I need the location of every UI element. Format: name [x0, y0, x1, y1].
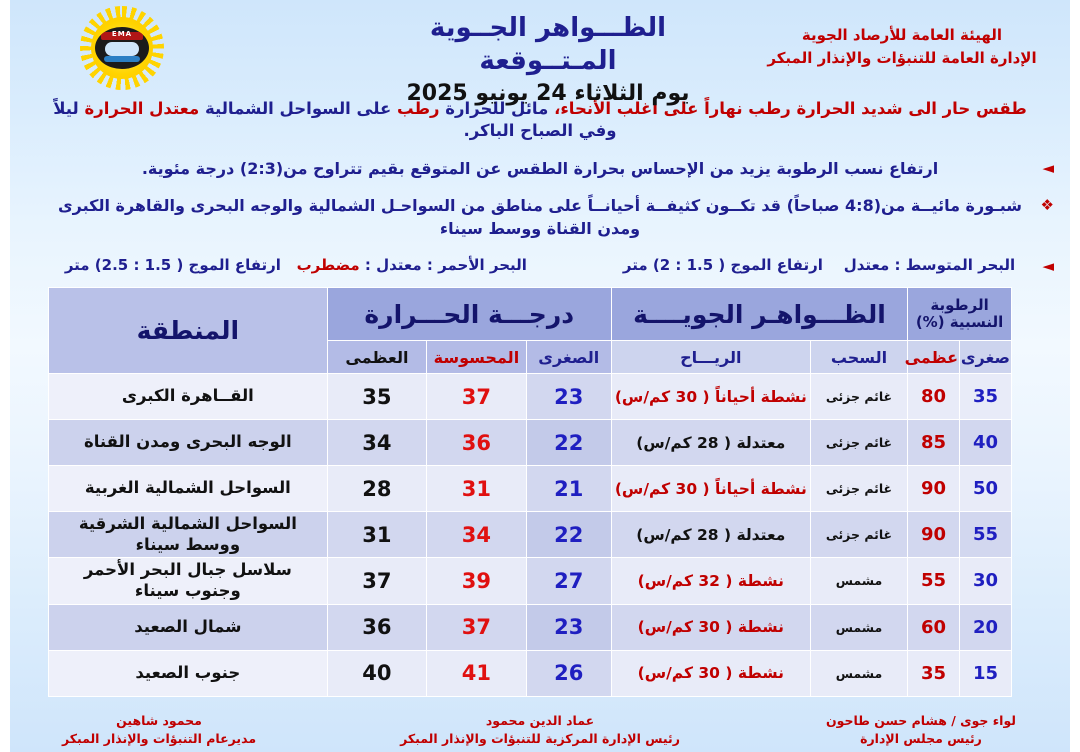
cell-region: شمال الصعيد [49, 604, 328, 650]
ema-logo-icon: EMA [74, 6, 170, 90]
table-body: 3580غائم جزئىنشطة أحياناً ( 30 كم/س)2337… [49, 374, 1012, 697]
central-head-title: رئيس الإدارة المركزية للتنبؤات والإنذار … [400, 730, 680, 748]
summary-part-5: معتدل الحرارة [84, 99, 199, 118]
cell-temp-feel: 36 [427, 420, 527, 466]
cell-humidity-min: 55 [960, 512, 1012, 558]
page-footer: لواء جوى / هشام حسن طاحون رئيس مجلس الإد… [10, 712, 1070, 748]
table-row: 3580غائم جزئىنشطة أحياناً ( 30 كم/س)2337… [49, 374, 1012, 420]
cell-humidity-min: 50 [960, 466, 1012, 512]
cell-region: السواحل الشمالية الغربية [49, 466, 328, 512]
mediterranean-wave-height: ارتفاع الموج ( 1.5 : 2) متر [623, 256, 823, 274]
agency-name: الهيئة العامة للأرصاد الجوية [752, 24, 1052, 47]
cell-temp-min: 21 [526, 466, 611, 512]
cell-humidity-max: 60 [908, 604, 960, 650]
summary-part-4: على السواحل الشمالية [205, 99, 391, 118]
cell-region: السواحل الشمالية الشرقية ووسط سيناء [49, 512, 328, 558]
cell-temp-min: 23 [526, 374, 611, 420]
red-sea-state: البحر الأحمر : معتدل : مضطرب ارتفاع المو… [65, 256, 527, 274]
cell-cloud: غائم جزئى [810, 512, 907, 558]
cell-wind: نشطة ( 32 كم/س) [611, 558, 810, 604]
bullet-arrow-icon-sea: ◄ [1042, 257, 1054, 275]
cell-temp-min: 27 [526, 558, 611, 604]
logo-cloud-icon [105, 42, 139, 56]
cell-wind: نشطة ( 30 كم/س) [611, 650, 810, 696]
mediterranean-sea-state: البحر المتوسط : معتدل ارتفاع الموج ( 1.5… [623, 256, 1015, 274]
cell-wind: نشطة أحياناً ( 30 كم/س) [611, 466, 810, 512]
red-sea-wave-height: ارتفاع الموج ( 1.5 : 2.5) متر [65, 256, 281, 274]
red-sea-label: البحر الأحمر : معتدل : [365, 256, 527, 274]
header-temperature: درجـــة الحـــرارة [327, 288, 611, 341]
cell-wind: معتدلة ( 28 كم/س) [611, 512, 810, 558]
cell-wind: معتدلة ( 28 كم/س) [611, 420, 810, 466]
cell-temp-min: 22 [526, 512, 611, 558]
central-head-name: عماد الدين محمود [400, 712, 680, 730]
bullet-arrow-icon: ◄ [1042, 158, 1054, 180]
logo-wave-icon [104, 56, 140, 62]
subheader-temp-max: العظمى [327, 341, 427, 374]
agency-department: الإدارة العامة للتنبؤات والإنذار المبكر [752, 47, 1052, 70]
sea-state-note: ◄ البحر المتوسط : معتدل ارتفاع الموج ( 1… [10, 256, 1070, 274]
cell-cloud: غائم جزئى [810, 374, 907, 420]
table-group-header-row: الرطوبة النسبية (%) الظـــواهـر الجويـــ… [49, 288, 1012, 341]
chairman-name: لواء جوى / هشام حسن طاحون [806, 712, 1036, 730]
table-row: 1535مشمسنشطة ( 30 كم/س)264140جنوب الصعيد [49, 650, 1012, 696]
table-row: 5090غائم جزئىنشطة أحياناً ( 30 كم/س)2131… [49, 466, 1012, 512]
cell-region: جنوب الصعيد [49, 650, 328, 696]
header-region: المنطقة [49, 288, 328, 374]
cell-wind: نشطة أحياناً ( 30 كم/س) [611, 374, 810, 420]
cell-temp-feel: 37 [427, 374, 527, 420]
mediterranean-label: البحر المتوسط : معتدل [844, 256, 1015, 274]
cell-humidity-max: 35 [908, 650, 960, 696]
cell-temp-feel: 34 [427, 512, 527, 558]
cell-humidity-min: 40 [960, 420, 1012, 466]
cell-region: الوجه البحرى ومدن القناة [49, 420, 328, 466]
bullet-diamond-icon: ❖ [1041, 195, 1054, 217]
title-block: الظـــواهر الجــوية المـتــوقعة يوم الثل… [378, 12, 718, 106]
forecast-table-wrapper: الرطوبة النسبية (%) الظـــواهـر الجويـــ… [48, 287, 1012, 697]
fog-note: ❖ شبـورة مائيــة من(4:8 صباحاً) قد تكــو… [10, 194, 1070, 240]
cell-temp-max: 28 [327, 466, 427, 512]
cell-temp-max: 34 [327, 420, 427, 466]
subheader-temp-feel: المحسوسة [427, 341, 527, 374]
cell-cloud: مشمس [810, 650, 907, 696]
cell-humidity-max: 90 [908, 466, 960, 512]
forecast-director-name: محمود شاهين [44, 712, 274, 730]
cell-temp-max: 35 [327, 374, 427, 420]
forecast-page: EMA الظـــواهر الجــوية المـتــوقعة يوم … [0, 0, 1080, 752]
forecast-director-title: مديرعام التنبؤات والإنذار المبكر [44, 730, 274, 748]
subheader-cloud: السحب [810, 341, 907, 374]
table-row: 4085غائم جزئىمعتدلة ( 28 كم/س)223634الوج… [49, 420, 1012, 466]
forecast-date: يوم الثلاثاء 24 يونيو 2025 [378, 81, 718, 106]
cell-humidity-min: 35 [960, 374, 1012, 420]
cell-humidity-min: 15 [960, 650, 1012, 696]
table-row: 5590غائم جزئىمعتدلة ( 28 كم/س)223431السو… [49, 512, 1012, 558]
header-humidity: الرطوبة النسبية (%) [908, 288, 1012, 341]
cell-cloud: مشمس [810, 604, 907, 650]
table-row: 2060مشمسنشطة ( 30 كم/س)233736شمال الصعيد [49, 604, 1012, 650]
cell-temp-max: 36 [327, 604, 427, 650]
header-phenomena: الظـــواهـر الجويــــة [611, 288, 907, 341]
chairman-title: رئيس مجلس الإدارة [806, 730, 1036, 748]
signature-central-head: عماد الدين محمود رئيس الإدارة المركزية ل… [400, 712, 680, 748]
cell-temp-feel: 31 [427, 466, 527, 512]
table-head: الرطوبة النسبية (%) الظـــواهـر الجويـــ… [49, 288, 1012, 374]
cell-wind: نشطة ( 30 كم/س) [611, 604, 810, 650]
logo-emblem: EMA [95, 27, 149, 69]
cell-temp-min: 22 [526, 420, 611, 466]
cell-humidity-max: 80 [908, 374, 960, 420]
cell-region: القــاهرة الكبرى [49, 374, 328, 420]
subheader-humidity-max: عظمى [908, 341, 960, 374]
cell-humidity-max: 90 [908, 512, 960, 558]
fog-note-line1: شبـورة مائيــة من(4:8 صباحاً) قد تكــون … [54, 194, 1026, 217]
cell-temp-feel: 37 [427, 604, 527, 650]
cell-cloud: غائم جزئى [810, 466, 907, 512]
cell-temp-max: 31 [327, 512, 427, 558]
red-sea-condition: مضطرب [297, 256, 360, 274]
cell-humidity-min: 30 [960, 558, 1012, 604]
page-title: الظـــواهر الجــوية المـتــوقعة [378, 12, 718, 77]
cell-temp-min: 26 [526, 650, 611, 696]
cell-temp-max: 40 [327, 650, 427, 696]
cell-humidity-max: 55 [908, 558, 960, 604]
cell-region: سلاسل جبال البحر الأحمر وجنوب سيناء [49, 558, 328, 604]
cell-cloud: غائم جزئى [810, 420, 907, 466]
subheader-humidity-min: صغرى [960, 341, 1012, 374]
cell-cloud: مشمس [810, 558, 907, 604]
cell-temp-feel: 41 [427, 650, 527, 696]
humidity-note: ◄ ارتفاع نسب الرطوبة يزيد من الإحساس بحر… [10, 157, 1070, 180]
cell-temp-feel: 39 [427, 558, 527, 604]
agency-block: الهيئة العامة للأرصاد الجوية الإدارة الع… [752, 24, 1052, 69]
table-row: 3055مشمسنشطة ( 32 كم/س)273937سلاسل جبال … [49, 558, 1012, 604]
humidity-note-text: ارتفاع نسب الرطوبة يزيد من الإحساس بحرار… [142, 159, 938, 178]
page-header: EMA الظـــواهر الجــوية المـتــوقعة يوم … [10, 0, 1070, 96]
fog-note-line2: ومدن القناة ووسط سيناء [54, 217, 1026, 240]
cell-temp-min: 23 [526, 604, 611, 650]
logo-ema-text: EMA [95, 30, 149, 38]
subheader-wind: الريـــاح [611, 341, 810, 374]
subheader-temp-min: الصغرى [526, 341, 611, 374]
cell-temp-max: 37 [327, 558, 427, 604]
signature-chairman: لواء جوى / هشام حسن طاحون رئيس مجلس الإد… [806, 712, 1036, 748]
cell-humidity-max: 85 [908, 420, 960, 466]
cell-humidity-min: 20 [960, 604, 1012, 650]
signature-forecast-director: محمود شاهين مديرعام التنبؤات والإنذار ال… [44, 712, 274, 748]
forecast-table: الرطوبة النسبية (%) الظـــواهـر الجويـــ… [48, 287, 1012, 697]
